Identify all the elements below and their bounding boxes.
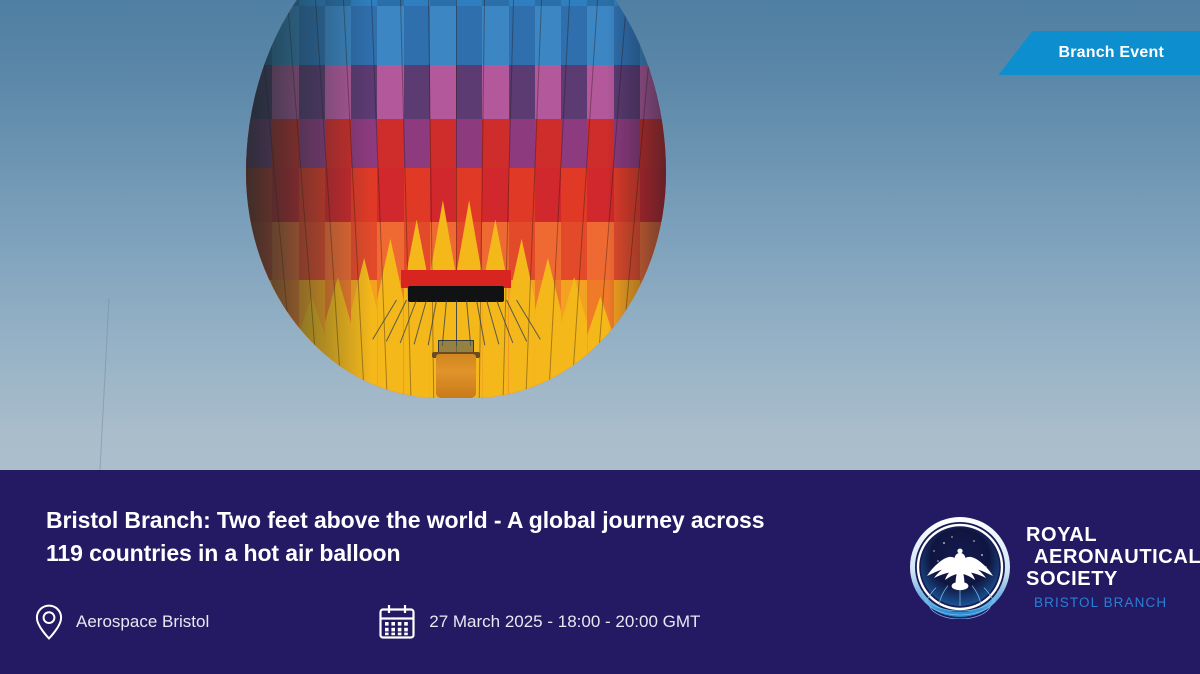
location-pin-icon (34, 603, 64, 641)
calendar-icon (377, 602, 417, 642)
logo-subtitle: BRISTOL BRANCH (1026, 595, 1200, 610)
event-location: Aerospace Bristol (34, 603, 209, 641)
royal-aeronautical-society-logo: ROYAL AERONAUTICAL SOCIETY BRISTOL BRANC… (908, 515, 1200, 619)
eagle-globe-emblem-icon (908, 515, 1012, 619)
logo-line-3: SOCIETY (1026, 568, 1200, 590)
branch-event-ribbon: Branch Event (998, 31, 1200, 75)
event-datetime-label: 27 March 2025 - 18:00 - 20:00 GMT (429, 612, 700, 632)
ribbon-label: Branch Event (1058, 44, 1164, 62)
balloon-basket (436, 354, 476, 398)
hot-air-balloon-photo (246, 0, 666, 398)
hero-photo: Branch Event (0, 0, 1200, 470)
event-title: Bristol Branch: Two feet above the world… (46, 504, 806, 569)
event-datetime: 27 March 2025 - 18:00 - 20:00 GMT (377, 602, 700, 642)
logo-wordmark: ROYAL AERONAUTICAL SOCIETY BRISTOL BRANC… (1026, 524, 1200, 610)
balloon-tether-line (99, 298, 109, 470)
logo-line-1: ROYAL (1026, 524, 1200, 546)
balloon-right-shadow (607, 0, 666, 398)
event-meta-row: Aerospace Bristol (34, 602, 700, 642)
event-info-bar: Bristol Branch: Two feet above the world… (0, 470, 1200, 674)
event-location-label: Aerospace Bristol (76, 612, 209, 632)
balloon-left-shadow (246, 0, 372, 398)
logo-line-2: AERONAUTICAL (1026, 546, 1200, 568)
event-banner: Branch Event Bristol Branch: Two feet ab… (0, 0, 1200, 674)
